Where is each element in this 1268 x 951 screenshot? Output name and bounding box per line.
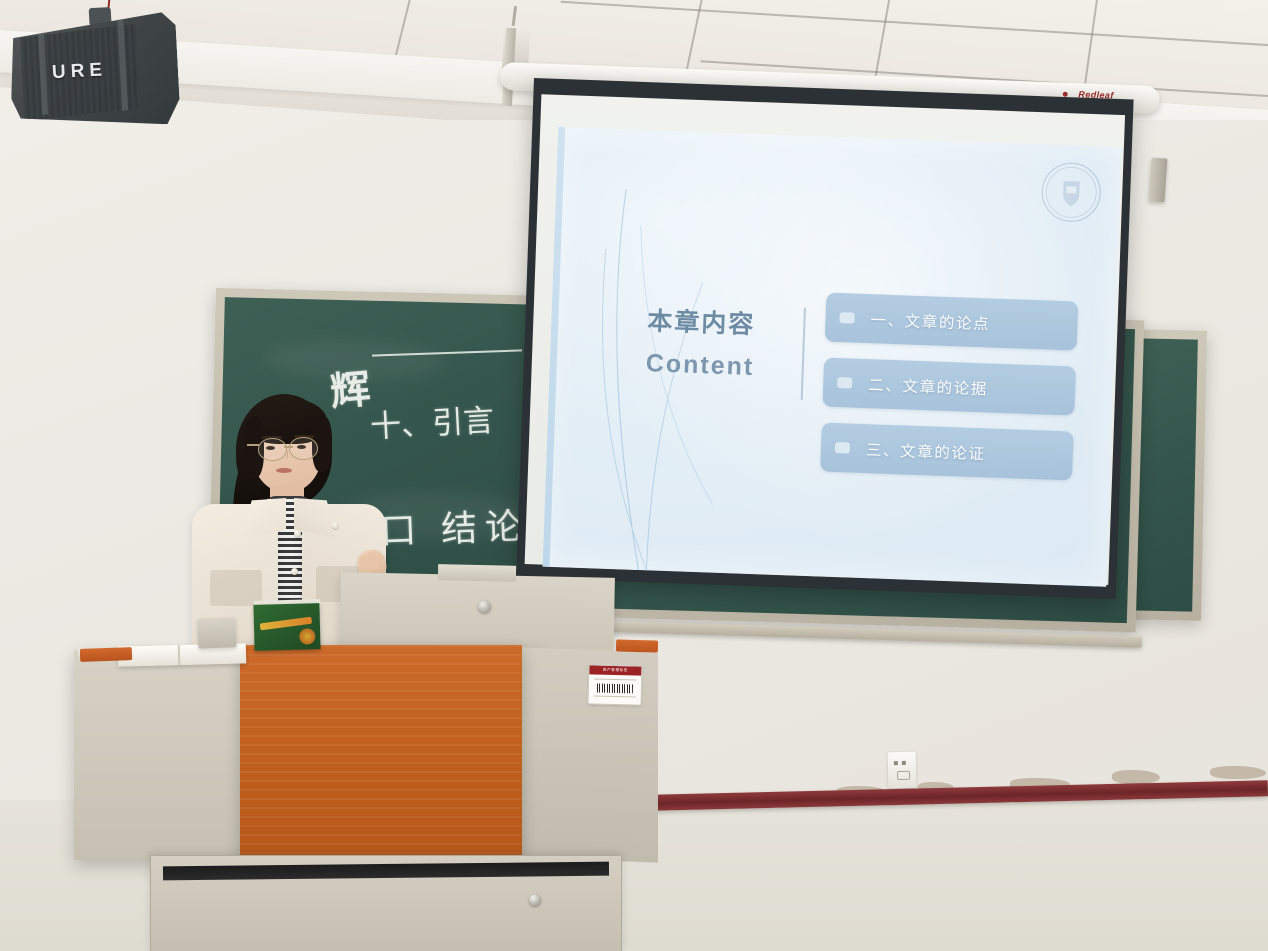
orange-book-edge-right xyxy=(616,639,658,652)
screen-surface: 本章内容 Content 一、文章的论点 二、文章的论据 三、文 xyxy=(525,94,1125,585)
board-eraser[interactable] xyxy=(197,617,236,648)
orange-book-edge-left xyxy=(80,647,132,662)
agenda-item-2[interactable]: 二、文章的论据 xyxy=(822,358,1076,416)
jacket-button xyxy=(332,522,339,529)
wall-power-outlet[interactable] xyxy=(888,752,917,788)
speaker-brand-label: URE xyxy=(51,59,107,84)
slide-title-cn: 本章内容 xyxy=(647,306,798,343)
plaster-damage xyxy=(1210,766,1266,779)
jacket-button xyxy=(291,568,298,575)
projector-screen[interactable]: 本章内容 Content 一、文章的论点 二、文章的论据 三、文 xyxy=(516,78,1134,599)
presentation-slide: 本章内容 Content 一、文章的论点 二、文章的论据 三、文 xyxy=(543,127,1122,587)
cabinet-lock-icon[interactable] xyxy=(529,894,541,906)
asset-label-header-text: 资产管理标签 xyxy=(589,665,641,675)
chalk-box-seal-icon xyxy=(299,628,315,644)
bullet-marker-icon xyxy=(839,312,854,324)
cabinet-vent-slot xyxy=(163,862,609,881)
wall-speaker: URE xyxy=(7,12,181,133)
asset-label-header: 资产管理标签 xyxy=(589,665,641,675)
classroom-scene: URE Redleaf 辉 十、引言 口 结论 xyxy=(0,0,1268,951)
book-spine xyxy=(178,645,181,665)
wood-grain-texture xyxy=(240,645,522,857)
slide-heading-group: 本章内容 Content xyxy=(645,306,797,384)
podium-monitor-edge xyxy=(438,564,516,582)
eyeglasses-bridge xyxy=(284,446,293,448)
bullet-marker-icon xyxy=(837,377,852,389)
nose xyxy=(282,450,288,460)
eyeglasses-lens-right xyxy=(289,437,318,460)
slide-agenda-list: 一、文章的论点 二、文章的论据 三、文章的论证 xyxy=(820,293,1079,497)
agenda-item-3[interactable]: 三、文章的论证 xyxy=(820,423,1074,481)
agenda-item-2-label: 二、文章的论据 xyxy=(868,373,988,399)
jacket-button xyxy=(294,530,301,537)
podium-front-panel xyxy=(240,645,522,857)
podium-lock-icon[interactable] xyxy=(478,600,491,613)
slide-title-en: Content xyxy=(645,349,796,383)
mouth xyxy=(276,468,292,473)
agenda-item-3-label: 三、文章的论证 xyxy=(866,438,986,464)
agenda-item-1[interactable]: 一、文章的论点 xyxy=(825,293,1079,351)
university-seal-icon xyxy=(1039,160,1103,224)
asset-inventory-label: 资产管理标签 xyxy=(588,664,643,705)
equipment-cabinet[interactable] xyxy=(150,855,622,951)
projector-wall-mount xyxy=(1148,157,1167,202)
asset-barcode-icon xyxy=(597,684,633,694)
chalk-box[interactable] xyxy=(253,603,320,651)
chalk-smear xyxy=(263,338,444,382)
plaster-damage xyxy=(1112,770,1160,784)
eyeglasses-temple xyxy=(247,444,259,446)
bullet-marker-icon xyxy=(835,442,850,454)
agenda-item-1-label: 一、文章的论点 xyxy=(870,308,990,334)
